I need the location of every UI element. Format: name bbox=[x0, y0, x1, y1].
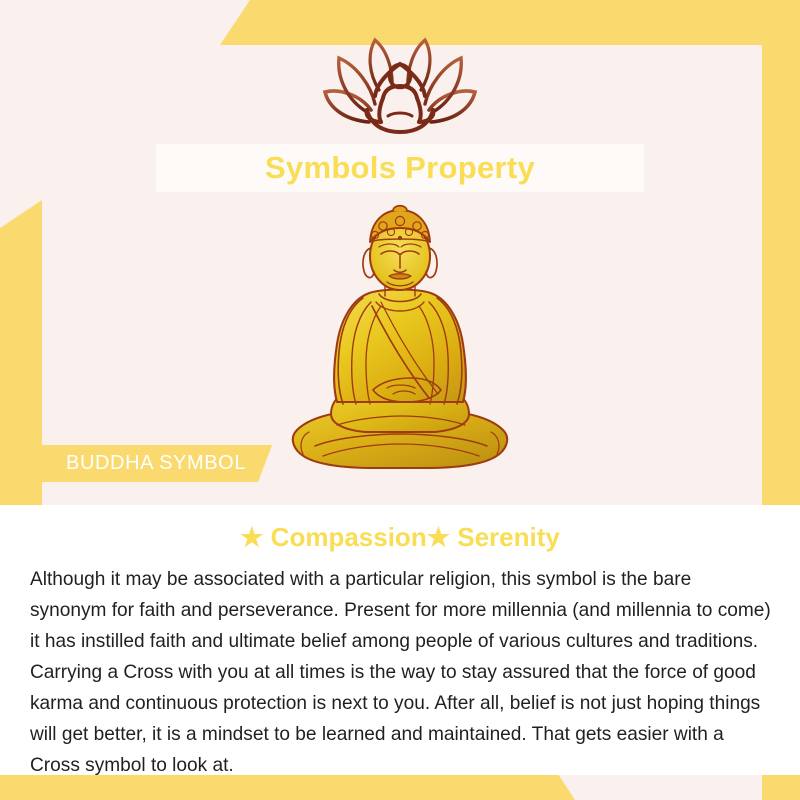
page-title: Symbols Property bbox=[265, 150, 535, 186]
article-panel: ★ Compassion★ Serenity Although it may b… bbox=[0, 505, 800, 775]
content-frame: BUDDHA STONES Symbols Property bbox=[56, 47, 744, 775]
article-heading: ★ Compassion★ Serenity bbox=[0, 505, 800, 553]
article-body: Although it may be associated with a par… bbox=[0, 553, 800, 781]
section-ribbon-label: BUDDHA SYMBOL bbox=[66, 452, 246, 475]
lotus-meditation-icon bbox=[305, 30, 495, 140]
section-ribbon: BUDDHA SYMBOL bbox=[20, 445, 272, 482]
golden-buddha-statue bbox=[275, 202, 525, 487]
title-banner: Symbols Property bbox=[156, 144, 644, 192]
hero-illustration bbox=[56, 202, 744, 487]
poster-root: BUDDHA STONES Symbols Property bbox=[0, 0, 800, 800]
